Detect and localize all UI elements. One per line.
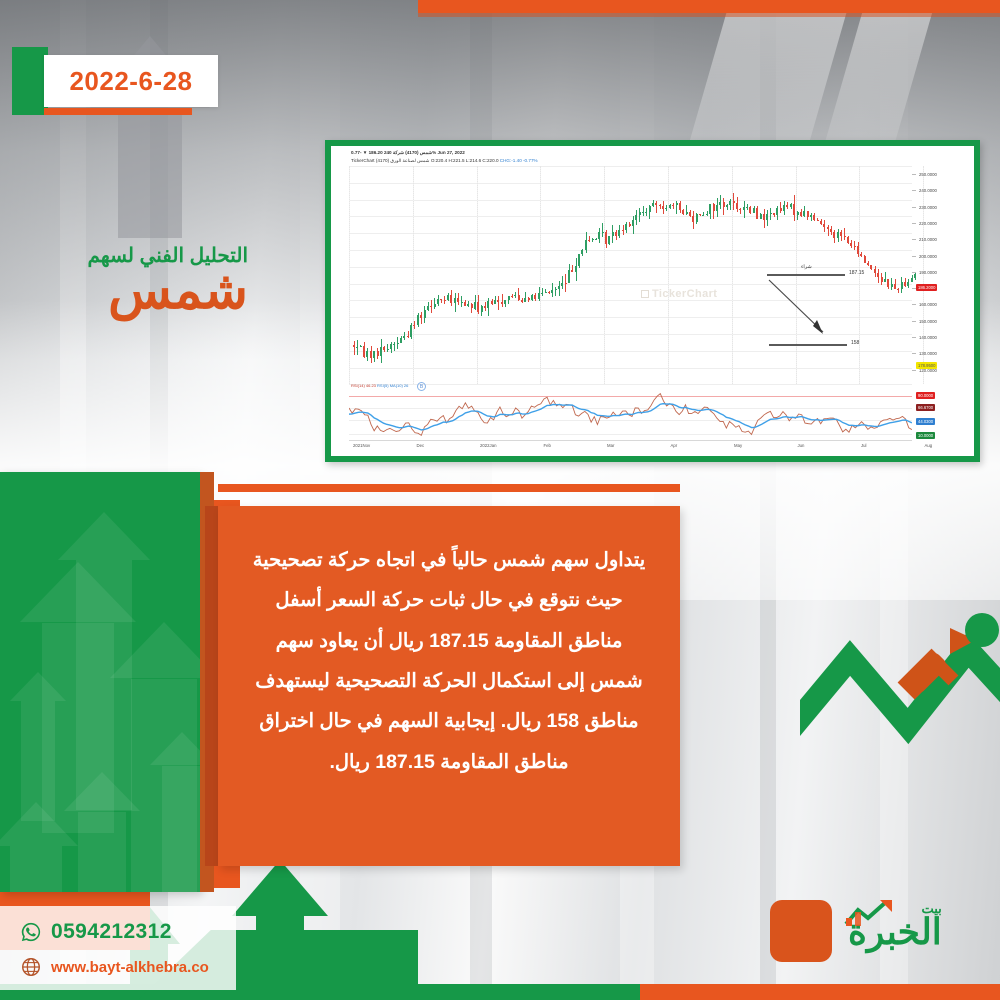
candle-body bbox=[393, 344, 395, 345]
globe-icon bbox=[20, 956, 42, 978]
indicator-badge: 66.6700 bbox=[916, 404, 935, 411]
candle-body bbox=[857, 246, 859, 254]
candle-body bbox=[581, 250, 583, 254]
candle-body bbox=[642, 212, 644, 213]
indicator-badge: 44.0300 bbox=[916, 418, 935, 425]
gridline bbox=[349, 250, 912, 251]
candle-body bbox=[736, 203, 738, 209]
y-tick: 200.0000 bbox=[919, 254, 937, 259]
candle-wick bbox=[498, 296, 499, 310]
indicator-ma-label: RSI(5) MA(10) 26 bbox=[377, 383, 408, 388]
candle-body bbox=[484, 306, 486, 308]
tickerchart-watermark: TickerChart bbox=[641, 288, 717, 300]
candle-body bbox=[793, 204, 795, 215]
candle-body bbox=[716, 205, 718, 210]
x-tick: Apr bbox=[671, 443, 678, 448]
gridline bbox=[349, 216, 912, 217]
candle-body bbox=[437, 299, 439, 304]
candle-body bbox=[864, 256, 866, 263]
candle-body bbox=[377, 351, 379, 356]
candle-body bbox=[797, 212, 799, 215]
candle-body bbox=[676, 203, 678, 205]
date-green-block bbox=[12, 47, 48, 115]
candle-body bbox=[618, 230, 620, 236]
x-tick: Jul bbox=[861, 443, 867, 448]
candle-body bbox=[427, 306, 429, 309]
candle-body bbox=[366, 351, 368, 357]
price-pane[interactable]: TickerChart شراء 187.15 158 bbox=[349, 166, 912, 384]
candle-body bbox=[602, 232, 604, 233]
candle-body bbox=[726, 205, 728, 206]
candle-body bbox=[548, 292, 550, 293]
title-main: شمس bbox=[88, 264, 248, 319]
candle-body bbox=[390, 344, 392, 348]
candle-body bbox=[813, 215, 815, 219]
candle-body bbox=[605, 232, 607, 244]
candle-body bbox=[870, 265, 872, 268]
candle-body bbox=[877, 273, 879, 277]
candle-body bbox=[830, 229, 832, 232]
candle-body bbox=[887, 279, 889, 287]
candle-body bbox=[881, 277, 883, 281]
gridline bbox=[349, 368, 912, 369]
indicator-header: RSI(14) 46.23 RSI(5) MA(10) 26 bbox=[351, 383, 408, 388]
text-panel-side bbox=[205, 506, 219, 866]
y-tick: 240.0000 bbox=[919, 188, 937, 193]
y-tick: 210.0000 bbox=[919, 237, 937, 242]
y-price-badge: 186.2000 bbox=[916, 284, 937, 291]
candle-body bbox=[424, 310, 426, 319]
candle-body bbox=[497, 300, 499, 302]
y-tick: 220.0000 bbox=[919, 221, 937, 226]
watermark-box-icon bbox=[641, 290, 649, 298]
contact-phone-text: 0594212312 bbox=[51, 920, 172, 944]
annotation-buy-label: شراء bbox=[801, 264, 812, 270]
candle-body bbox=[487, 301, 489, 308]
candle-body bbox=[565, 283, 567, 284]
candle-body bbox=[595, 239, 597, 240]
candle-body bbox=[457, 298, 459, 302]
candle-body bbox=[729, 201, 731, 205]
indicator-badges: 90.000066.670044.030010.0000 bbox=[912, 390, 974, 442]
y-tick: 190.0000 bbox=[919, 270, 937, 275]
candle-body bbox=[823, 224, 825, 227]
candle-body bbox=[363, 346, 365, 357]
candle-body bbox=[807, 211, 809, 217]
candle-body bbox=[383, 347, 385, 350]
gridline bbox=[477, 166, 478, 384]
indicator-badge: 10.0000 bbox=[916, 432, 935, 439]
candle-body bbox=[491, 301, 493, 304]
candle-body bbox=[578, 254, 580, 266]
candle-body bbox=[719, 202, 721, 206]
indicator-badge: 90.0000 bbox=[916, 392, 935, 399]
candle-body bbox=[461, 302, 463, 303]
candle-body bbox=[524, 298, 526, 302]
candle-body bbox=[370, 351, 372, 358]
candle-body bbox=[743, 207, 745, 210]
candle-body bbox=[837, 232, 839, 238]
candle-body bbox=[508, 296, 510, 300]
candle-body bbox=[373, 351, 375, 358]
date-text: 2022-6-28 bbox=[69, 66, 192, 97]
candle-body bbox=[867, 263, 869, 265]
candle-wick bbox=[502, 294, 503, 307]
gridline bbox=[413, 166, 414, 384]
candle-body bbox=[598, 232, 600, 239]
candle-body bbox=[672, 205, 674, 206]
candle-body bbox=[702, 215, 704, 216]
candle-body bbox=[844, 236, 846, 237]
candle-body bbox=[501, 302, 503, 304]
candle-body bbox=[669, 205, 671, 209]
candle-body bbox=[467, 304, 469, 306]
candle-body bbox=[696, 214, 698, 222]
candle-body bbox=[444, 300, 446, 301]
candle-body bbox=[403, 336, 405, 338]
chart-symbol-line: شمس (4170) شركة 240 186.20 ▼ -0.77% Jun … bbox=[351, 149, 972, 157]
candle-wick bbox=[844, 228, 845, 241]
x-tick: May bbox=[734, 443, 742, 448]
candle-body bbox=[753, 208, 755, 213]
candle-body bbox=[481, 306, 483, 312]
candle-body bbox=[810, 215, 812, 217]
candle-body bbox=[471, 304, 473, 308]
candle-body bbox=[420, 315, 422, 318]
candle-body bbox=[417, 315, 419, 326]
candle-wick bbox=[602, 223, 603, 238]
candle-body bbox=[494, 300, 496, 304]
candle-body bbox=[356, 347, 358, 348]
indicator-line bbox=[349, 404, 912, 430]
candle-body bbox=[360, 346, 362, 347]
candle-body bbox=[531, 295, 533, 300]
candle-body bbox=[410, 325, 412, 336]
candle-body bbox=[551, 290, 553, 293]
chart-card[interactable]: شمس (4170) شركة 240 186.20 ▼ -0.77% Jun … bbox=[325, 140, 980, 462]
candle-body bbox=[773, 213, 775, 215]
zigzag-trend-icon bbox=[800, 600, 1000, 800]
gridline bbox=[349, 166, 912, 167]
x-tick: Jun bbox=[798, 443, 805, 448]
x-tick: Feb bbox=[544, 443, 551, 448]
candle-body bbox=[518, 295, 520, 300]
candle-body bbox=[407, 336, 409, 337]
candle-body bbox=[575, 266, 577, 272]
candle-body bbox=[709, 204, 711, 214]
candle-body bbox=[430, 306, 432, 307]
candle-body bbox=[474, 302, 476, 308]
gridline bbox=[349, 267, 912, 268]
x-tick: 2021Nov bbox=[353, 443, 370, 448]
candle-body bbox=[380, 347, 382, 356]
top-accent-bar bbox=[418, 0, 1000, 13]
candle-body bbox=[776, 208, 778, 216]
candle-wick bbox=[444, 296, 445, 304]
gridline bbox=[668, 166, 669, 384]
candle-body bbox=[699, 214, 701, 215]
contact-website-text: www.bayt-alkhebra.co bbox=[51, 959, 209, 976]
candle-body bbox=[679, 203, 681, 211]
text-panel-accent bbox=[218, 484, 680, 492]
candle-body bbox=[901, 282, 903, 290]
y-tick: 230.0000 bbox=[919, 205, 937, 210]
candle-body bbox=[397, 343, 399, 344]
candle-body bbox=[746, 207, 748, 208]
gridline bbox=[349, 183, 912, 184]
chart-ohlc-text: TickerChart شمس لصناعة الورق (4170) O:22… bbox=[351, 158, 499, 163]
candle-body bbox=[854, 246, 856, 247]
candle-body bbox=[820, 221, 822, 224]
candle-body bbox=[907, 282, 909, 286]
gridline bbox=[349, 384, 912, 385]
candle-body bbox=[756, 208, 758, 219]
candle-body bbox=[625, 224, 627, 230]
candle-body bbox=[766, 214, 768, 220]
candle-body bbox=[713, 204, 715, 210]
candle-body bbox=[723, 202, 725, 207]
y-price-badge: 178.9500 bbox=[916, 362, 937, 369]
candle-body bbox=[538, 293, 540, 299]
x-tick: Aug bbox=[925, 443, 933, 448]
candle-body bbox=[440, 299, 442, 300]
candle-body bbox=[827, 227, 829, 228]
candle-body bbox=[652, 203, 654, 206]
candle-body bbox=[840, 232, 842, 236]
candle-body bbox=[786, 205, 788, 207]
date-underline bbox=[44, 108, 192, 115]
candle-body bbox=[706, 214, 708, 215]
whatsapp-icon bbox=[20, 921, 42, 943]
candle-body bbox=[733, 201, 735, 203]
candle-body bbox=[608, 236, 610, 244]
bottom-orange-bar bbox=[640, 984, 1000, 1000]
candle-body bbox=[541, 293, 543, 294]
contact-website-row[interactable]: www.bayt-alkhebra.co bbox=[20, 956, 209, 978]
candle-body bbox=[400, 338, 402, 343]
candle-body bbox=[649, 206, 651, 212]
logo-growth-arrow-icon bbox=[842, 898, 898, 928]
candle-body bbox=[897, 289, 899, 290]
candle-body bbox=[686, 212, 688, 215]
candle-body bbox=[464, 302, 466, 307]
price-y-axis: 250.0000240.0000230.0000220.0000210.0000… bbox=[912, 166, 974, 384]
candle-body bbox=[790, 204, 792, 207]
page-title: التحليل الفني لسهم شمس bbox=[88, 246, 248, 319]
candle-body bbox=[622, 230, 624, 231]
candle-body bbox=[447, 295, 449, 299]
chart-x-axis: 2021NovDec2022JanFebMarAprMayJunJulAug bbox=[349, 440, 912, 452]
candle-body bbox=[783, 205, 785, 212]
candle-body bbox=[454, 298, 456, 302]
candle-wick bbox=[408, 331, 409, 338]
contact-phone-row[interactable]: 0594212312 bbox=[20, 920, 172, 944]
candle-body bbox=[850, 243, 852, 246]
chart-ohlc-line: TickerChart شمس لصناعة الورق (4170) O:22… bbox=[351, 157, 972, 165]
candle-body bbox=[770, 213, 772, 214]
target-price-label: 158 bbox=[851, 340, 859, 346]
candle-wick bbox=[673, 203, 674, 209]
candle-wick bbox=[811, 213, 812, 221]
y-tick: 250.0000 bbox=[919, 172, 937, 177]
candle-body bbox=[692, 216, 694, 222]
candle-body bbox=[891, 284, 893, 287]
watermark-text: TickerChart bbox=[652, 288, 717, 300]
candle-body bbox=[749, 207, 751, 213]
candle-body bbox=[780, 208, 782, 212]
candle-body bbox=[387, 349, 389, 350]
candle-body bbox=[521, 300, 523, 301]
x-tick: Dec bbox=[417, 443, 425, 448]
candle-body bbox=[504, 300, 506, 304]
candle-body bbox=[585, 240, 587, 249]
candle-body bbox=[568, 270, 570, 283]
chart-change-text: CHG:-1.40 -0.77% bbox=[500, 158, 538, 163]
y-tick: 130.0000 bbox=[919, 351, 937, 356]
candle-body bbox=[817, 220, 819, 221]
candle-body bbox=[534, 295, 536, 298]
candle-body bbox=[511, 296, 513, 297]
candle-body bbox=[659, 205, 661, 206]
candle-body bbox=[904, 282, 906, 286]
candle-body bbox=[477, 302, 479, 311]
candle-body bbox=[632, 220, 634, 225]
candle-body bbox=[635, 215, 637, 220]
candle-wick bbox=[354, 341, 355, 355]
date-badge: 2022-6-28 bbox=[44, 55, 218, 107]
candle-body bbox=[739, 209, 741, 210]
candle-body bbox=[561, 283, 563, 287]
down-arrow-icon bbox=[765, 276, 845, 346]
y-tick: 150.0000 bbox=[919, 319, 937, 324]
candle-body bbox=[803, 211, 805, 215]
chart-inner: شمس (4170) شركة 240 186.20 ▼ -0.77% Jun … bbox=[331, 146, 974, 456]
top-accent-bar-shadow bbox=[418, 13, 1000, 17]
candle-body bbox=[760, 214, 762, 219]
y-tick: 140.0000 bbox=[919, 335, 937, 340]
indicator-pane[interactable]: RSI(14) 46.23 RSI(5) MA(10) 26 bbox=[349, 390, 912, 442]
candle-body bbox=[884, 279, 886, 281]
candle-body bbox=[639, 212, 641, 215]
candle-body bbox=[894, 284, 896, 289]
candle-body bbox=[558, 286, 560, 288]
gridline bbox=[349, 200, 912, 201]
candle-body bbox=[555, 289, 557, 290]
indicator-rsi-label: RSI(14) 46.23 bbox=[351, 383, 376, 388]
gridline bbox=[604, 166, 605, 384]
candle-body bbox=[662, 206, 664, 208]
candle-body bbox=[800, 212, 802, 216]
candle-body bbox=[592, 239, 594, 241]
candle-body bbox=[847, 237, 849, 243]
candle-body bbox=[353, 345, 355, 347]
candle-body bbox=[434, 304, 436, 308]
candle-body bbox=[874, 269, 876, 273]
y-tick: 160.0000 bbox=[919, 302, 937, 307]
indicator-lines bbox=[349, 390, 912, 441]
candle-body bbox=[545, 292, 547, 293]
candle-body bbox=[860, 254, 862, 256]
brand-logo[interactable]: بيت الخبرة bbox=[848, 902, 942, 950]
chart-marker-icon[interactable]: B bbox=[417, 382, 426, 391]
candle-body bbox=[588, 240, 590, 241]
x-tick: 2022Jan bbox=[480, 443, 497, 448]
candle-body bbox=[514, 295, 516, 296]
candle-body bbox=[645, 212, 647, 213]
candle-body bbox=[413, 325, 415, 326]
logo-square-decor bbox=[770, 900, 832, 962]
candle-body bbox=[833, 232, 835, 238]
analysis-text-panel: يتداول سهم شمس حالياً في اتجاه حركة تصحي… bbox=[218, 506, 680, 866]
gridline bbox=[540, 166, 541, 384]
x-tick: Mar bbox=[607, 443, 614, 448]
candle-body bbox=[665, 208, 667, 209]
candle-body bbox=[612, 232, 614, 236]
resistance-price-label: 187.15 bbox=[849, 270, 864, 276]
gridline bbox=[349, 166, 350, 384]
candle-body bbox=[655, 203, 657, 205]
candle-body bbox=[763, 214, 765, 220]
candle-body bbox=[689, 212, 691, 217]
candle-body bbox=[450, 295, 452, 302]
gridline bbox=[349, 351, 912, 352]
analysis-paragraph: يتداول سهم شمس حالياً في اتجاه حركة تصحي… bbox=[248, 540, 650, 782]
candle-body bbox=[629, 224, 631, 226]
bg-arrow-icon bbox=[118, 108, 182, 238]
candle-body bbox=[682, 210, 684, 214]
candle-body bbox=[528, 298, 530, 300]
green-arrow-panel bbox=[0, 472, 200, 892]
candle-body bbox=[615, 232, 617, 237]
candle-body bbox=[571, 270, 573, 272]
